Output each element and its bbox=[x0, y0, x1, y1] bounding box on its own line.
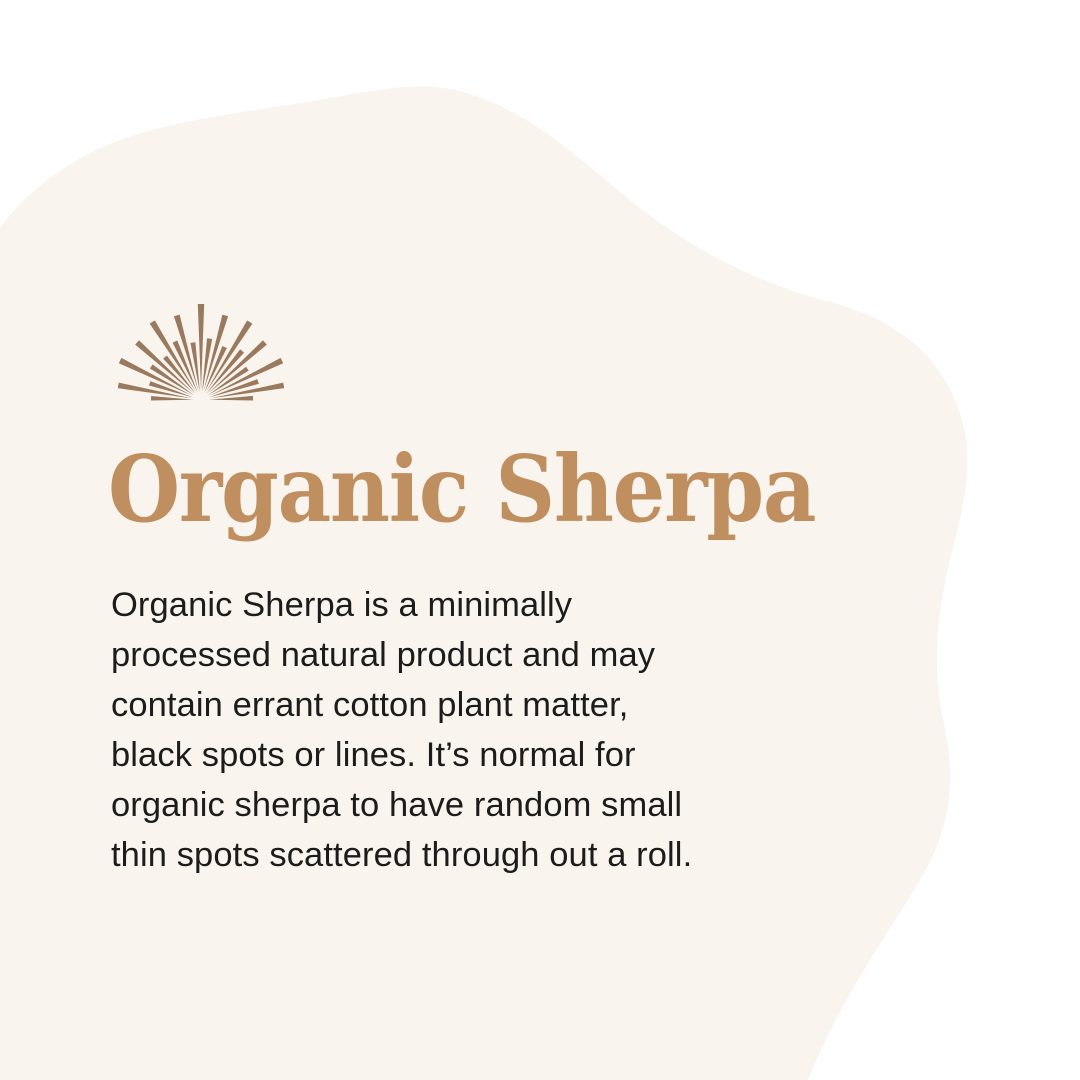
description-line: processed natural product and may bbox=[111, 630, 811, 680]
description-line: organic sherpa to have random small bbox=[111, 780, 811, 830]
page-title: Organic Sherpa bbox=[108, 443, 815, 537]
description-line: black spots or lines. It’s normal for bbox=[111, 730, 811, 780]
sunburst-icon bbox=[103, 300, 299, 404]
product-info-card: Organic Sherpa Organic Sherpa is a minim… bbox=[0, 0, 1080, 1080]
description-line: thin spots scattered through out a roll. bbox=[111, 830, 811, 880]
card-content: Organic Sherpa Organic Sherpa is a minim… bbox=[0, 0, 1080, 1080]
product-description: Organic Sherpa is a minimally processed … bbox=[111, 580, 811, 880]
description-line: Organic Sherpa is a minimally bbox=[111, 580, 811, 630]
sunburst-rays bbox=[118, 304, 284, 402]
description-line: contain errant cotton plant matter, bbox=[111, 680, 811, 730]
